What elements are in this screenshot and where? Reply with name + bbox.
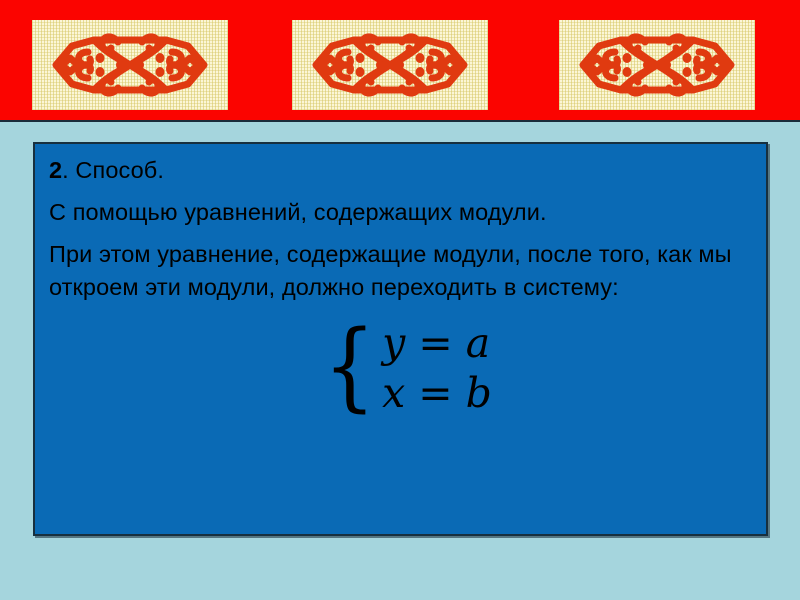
heading-line: 2. Способ. xyxy=(49,154,752,187)
kazakh-ornament-1 xyxy=(32,20,228,110)
kazakh-ornament-3 xyxy=(559,20,755,110)
kazakh-ornament-2 xyxy=(292,20,488,110)
equation-line-1: y = a xyxy=(382,318,492,368)
equation-system: { y = a x = b xyxy=(49,318,752,418)
top-red-banner xyxy=(0,0,800,122)
body-paragraph: При этом уравнение, содержащие модули, п… xyxy=(49,238,752,304)
left-curly-brace-icon: { xyxy=(324,329,376,404)
content-box: 2. Способ. С помощью уравнений, содержащ… xyxy=(33,142,768,536)
equation-line-2: x = b xyxy=(382,368,492,418)
heading-number: 2 xyxy=(49,157,62,183)
heading-rest: . Способ. xyxy=(62,157,164,183)
method-line: С помощью уравнений, содержащих модули. xyxy=(49,196,752,229)
